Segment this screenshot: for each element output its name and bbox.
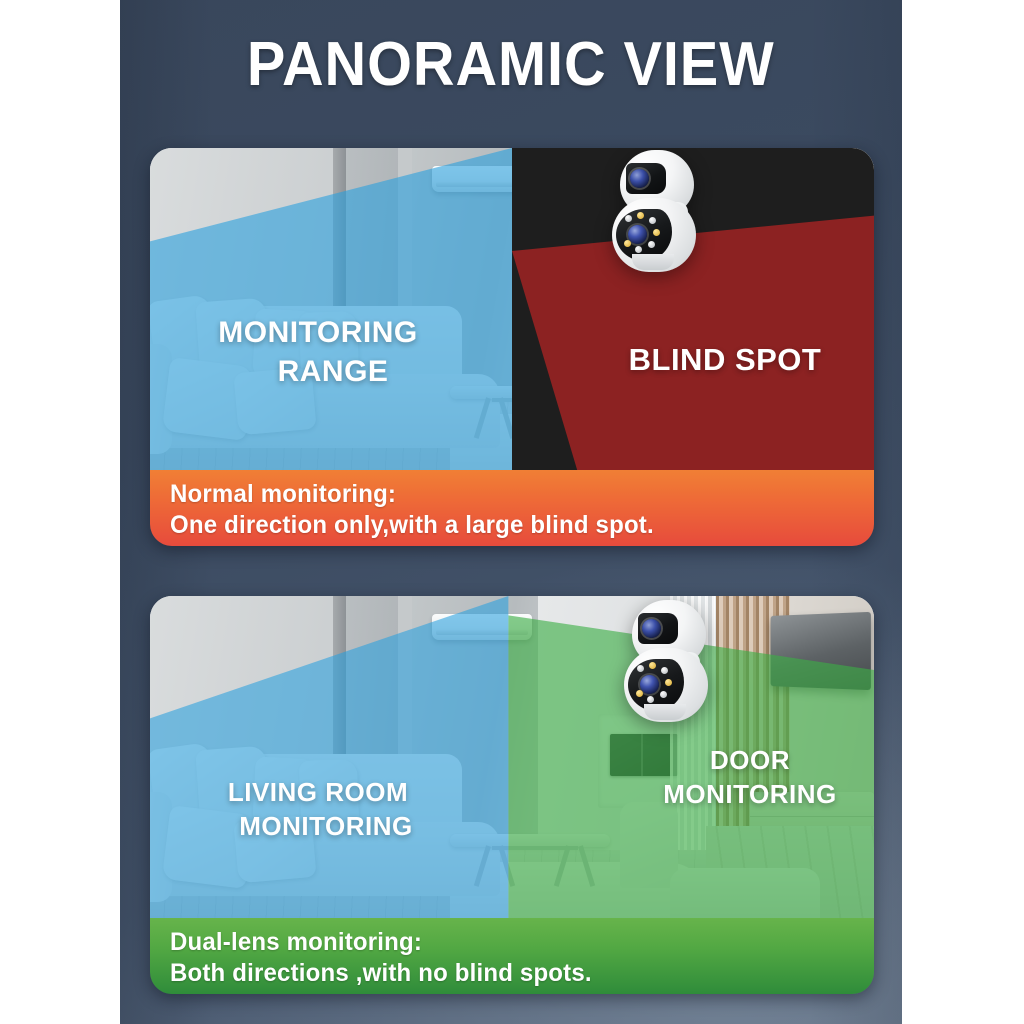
ir-led-icon bbox=[625, 215, 632, 222]
scene-normal-monitoring: MONITORING RANGE BLIND SPOT bbox=[150, 148, 874, 470]
header: PANORAMIC VIEW bbox=[120, 10, 902, 118]
ir-led-icon bbox=[665, 679, 672, 686]
ir-led-icon bbox=[637, 212, 644, 219]
label-monitoring-range-line2: RANGE bbox=[168, 352, 468, 391]
ir-led-icon bbox=[648, 241, 655, 248]
ir-led-icon bbox=[624, 240, 631, 247]
dual-lens-camera-icon bbox=[618, 600, 714, 722]
camera-base bbox=[632, 254, 674, 270]
camera-upper-lens-icon bbox=[626, 163, 666, 194]
camera-lens-glass bbox=[640, 675, 659, 694]
caption-dual-line1: Dual-lens monitoring: bbox=[170, 927, 846, 958]
dual-lens-camera-icon bbox=[606, 150, 702, 272]
panel-dual-lens-monitoring: LIVING ROOM MONITORING DOOR MONITORING bbox=[150, 596, 874, 994]
label-blind-spot: BLIND SPOT bbox=[580, 340, 870, 380]
ir-led-icon bbox=[647, 696, 654, 703]
ir-led-icon bbox=[635, 246, 642, 253]
ir-led-icon bbox=[653, 229, 660, 236]
caption-normal-monitoring: Normal monitoring: One direction only,wi… bbox=[150, 470, 874, 546]
ir-led-icon bbox=[636, 690, 643, 697]
label-monitoring-range: MONITORING RANGE bbox=[168, 313, 468, 391]
ir-led-icon bbox=[637, 665, 644, 672]
label-door-monitoring-line2: MONITORING bbox=[663, 779, 837, 809]
label-living-room-line2: MONITORING bbox=[158, 810, 478, 844]
camera-upper-lens-icon bbox=[638, 613, 678, 644]
ottoman bbox=[670, 420, 820, 470]
caption-normal-line2: One direction only,with a large blind sp… bbox=[170, 510, 846, 541]
caption-dual-lens-monitoring: Dual-lens monitoring: Both directions ,w… bbox=[150, 918, 874, 994]
camera-base bbox=[644, 704, 686, 720]
panel-normal-monitoring: MONITORING RANGE BLIND SPOT bbox=[150, 148, 874, 546]
air-conditioner-icon bbox=[432, 614, 532, 640]
ir-led-icon bbox=[661, 667, 668, 674]
wall-niche-inset bbox=[610, 286, 678, 328]
ottoman bbox=[670, 868, 820, 918]
air-conditioner-icon bbox=[432, 166, 532, 192]
armchair bbox=[620, 802, 678, 888]
caption-normal-line1: Normal monitoring: bbox=[170, 479, 846, 510]
wall-mounted-tv-icon bbox=[771, 612, 871, 690]
room-photo-top bbox=[150, 148, 874, 470]
page-title: PANORAMIC VIEW bbox=[247, 29, 775, 100]
caption-dual-line2: Both directions ,with no blind spots. bbox=[170, 958, 846, 989]
label-monitoring-range-line1: MONITORING bbox=[218, 316, 417, 349]
ir-led-icon bbox=[649, 217, 656, 224]
ir-led-icon bbox=[649, 662, 656, 669]
scene-dual-lens-monitoring: LIVING ROOM MONITORING DOOR MONITORING bbox=[150, 596, 874, 918]
label-living-room-line1: LIVING ROOM bbox=[228, 777, 408, 807]
poster-canvas: PANORAMIC VIEW bbox=[0, 0, 1024, 1024]
camera-lens-glass bbox=[628, 225, 647, 244]
label-living-room-monitoring: LIVING ROOM MONITORING bbox=[158, 776, 478, 844]
label-door-monitoring-line1: DOOR bbox=[710, 745, 790, 775]
label-door-monitoring: DOOR MONITORING bbox=[620, 744, 874, 812]
ir-led-icon bbox=[660, 691, 667, 698]
